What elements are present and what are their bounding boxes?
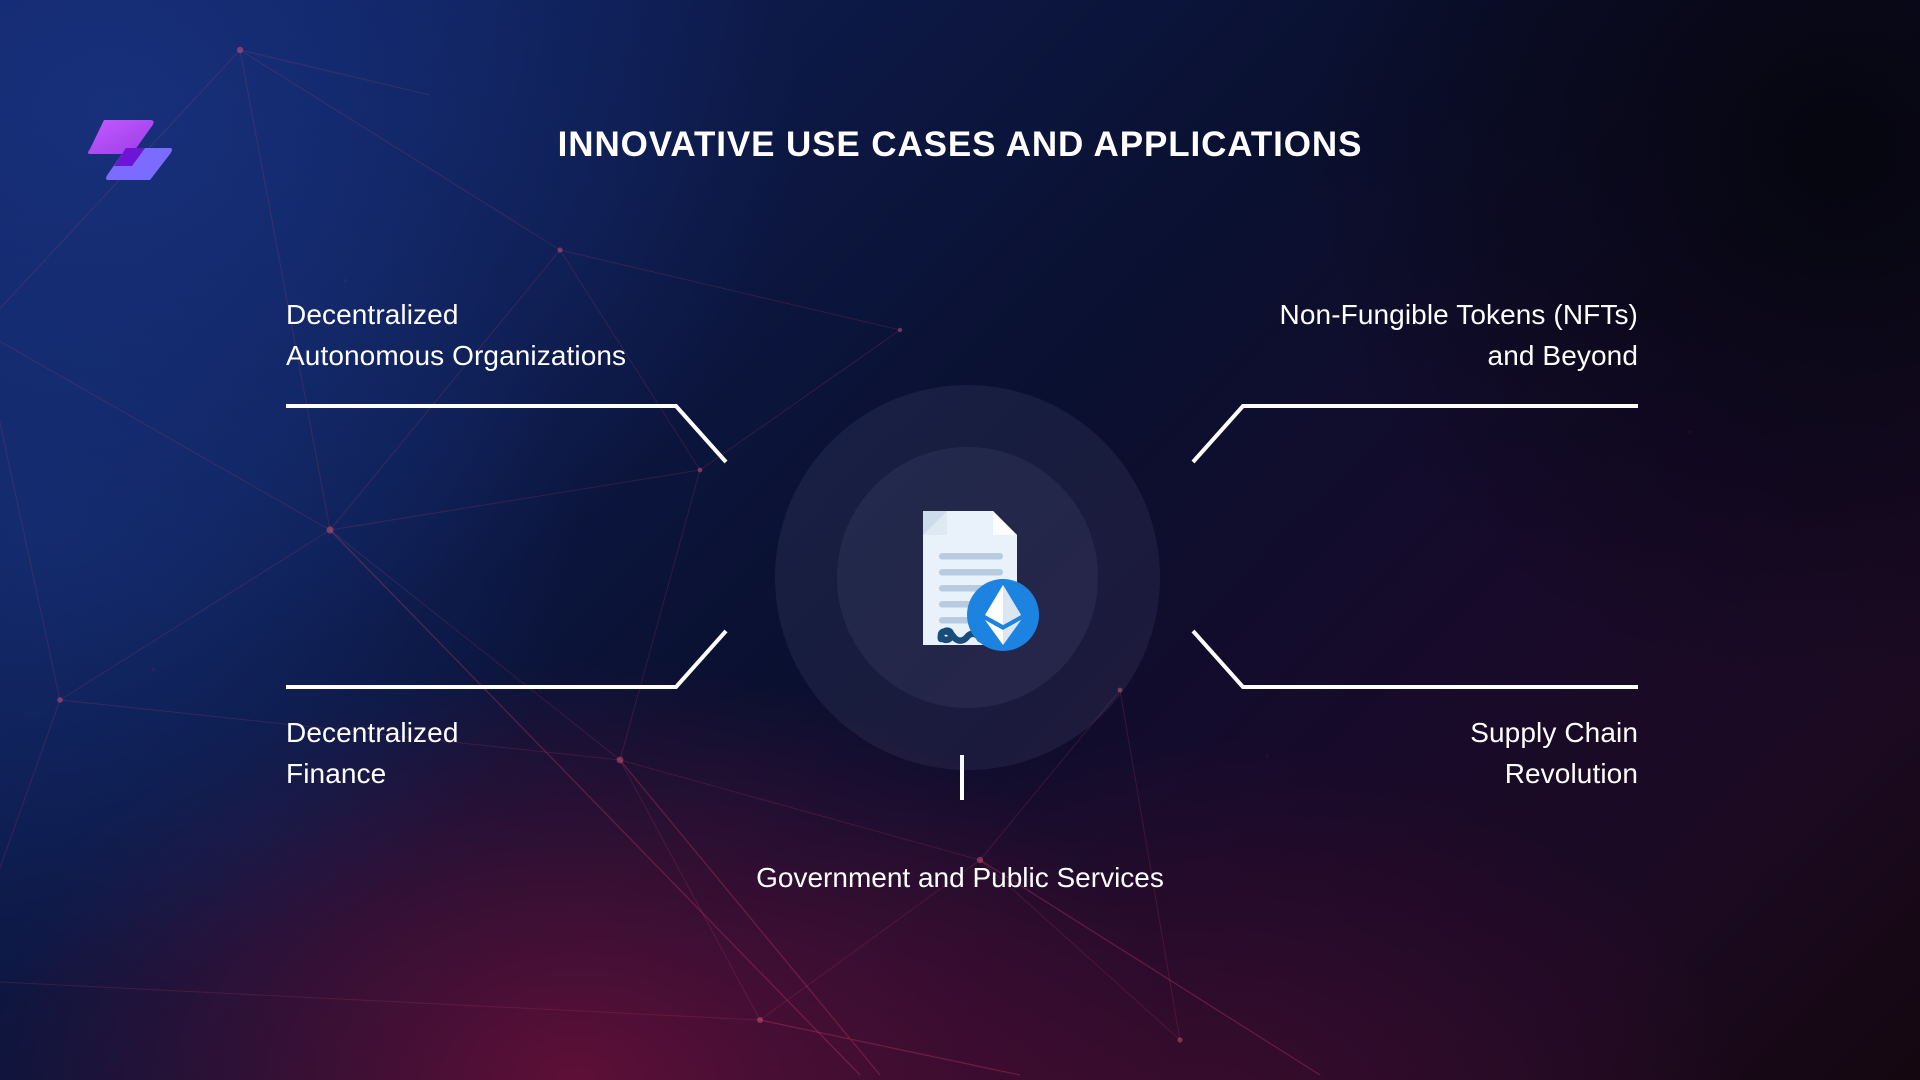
slide-canvas: INNOVATIVE USE CASES AND APPLICATIONS	[0, 0, 1920, 1080]
connector-nft	[1193, 406, 1638, 462]
signed-document-ethereum-icon[interactable]	[885, 493, 1055, 663]
label-supply-chain-revolution: Supply Chain Revolution	[1470, 712, 1638, 794]
label-government-and-public-services: Government and Public Services	[0, 857, 1920, 898]
connector-defi	[286, 631, 726, 687]
ethereum-diamond-icon	[967, 579, 1039, 651]
label-decentralized-finance: Decentralized Finance	[286, 712, 459, 794]
center-medallion	[775, 385, 1160, 770]
connector-scr	[1193, 631, 1638, 687]
label-decentralized-autonomous-organizations: Decentralized Autonomous Organizations	[286, 294, 626, 376]
label-non-fungible-tokens: Non-Fungible Tokens (NFTs) and Beyond	[1280, 294, 1638, 376]
page-title: INNOVATIVE USE CASES AND APPLICATIONS	[0, 125, 1920, 165]
connector-dao	[286, 406, 726, 462]
